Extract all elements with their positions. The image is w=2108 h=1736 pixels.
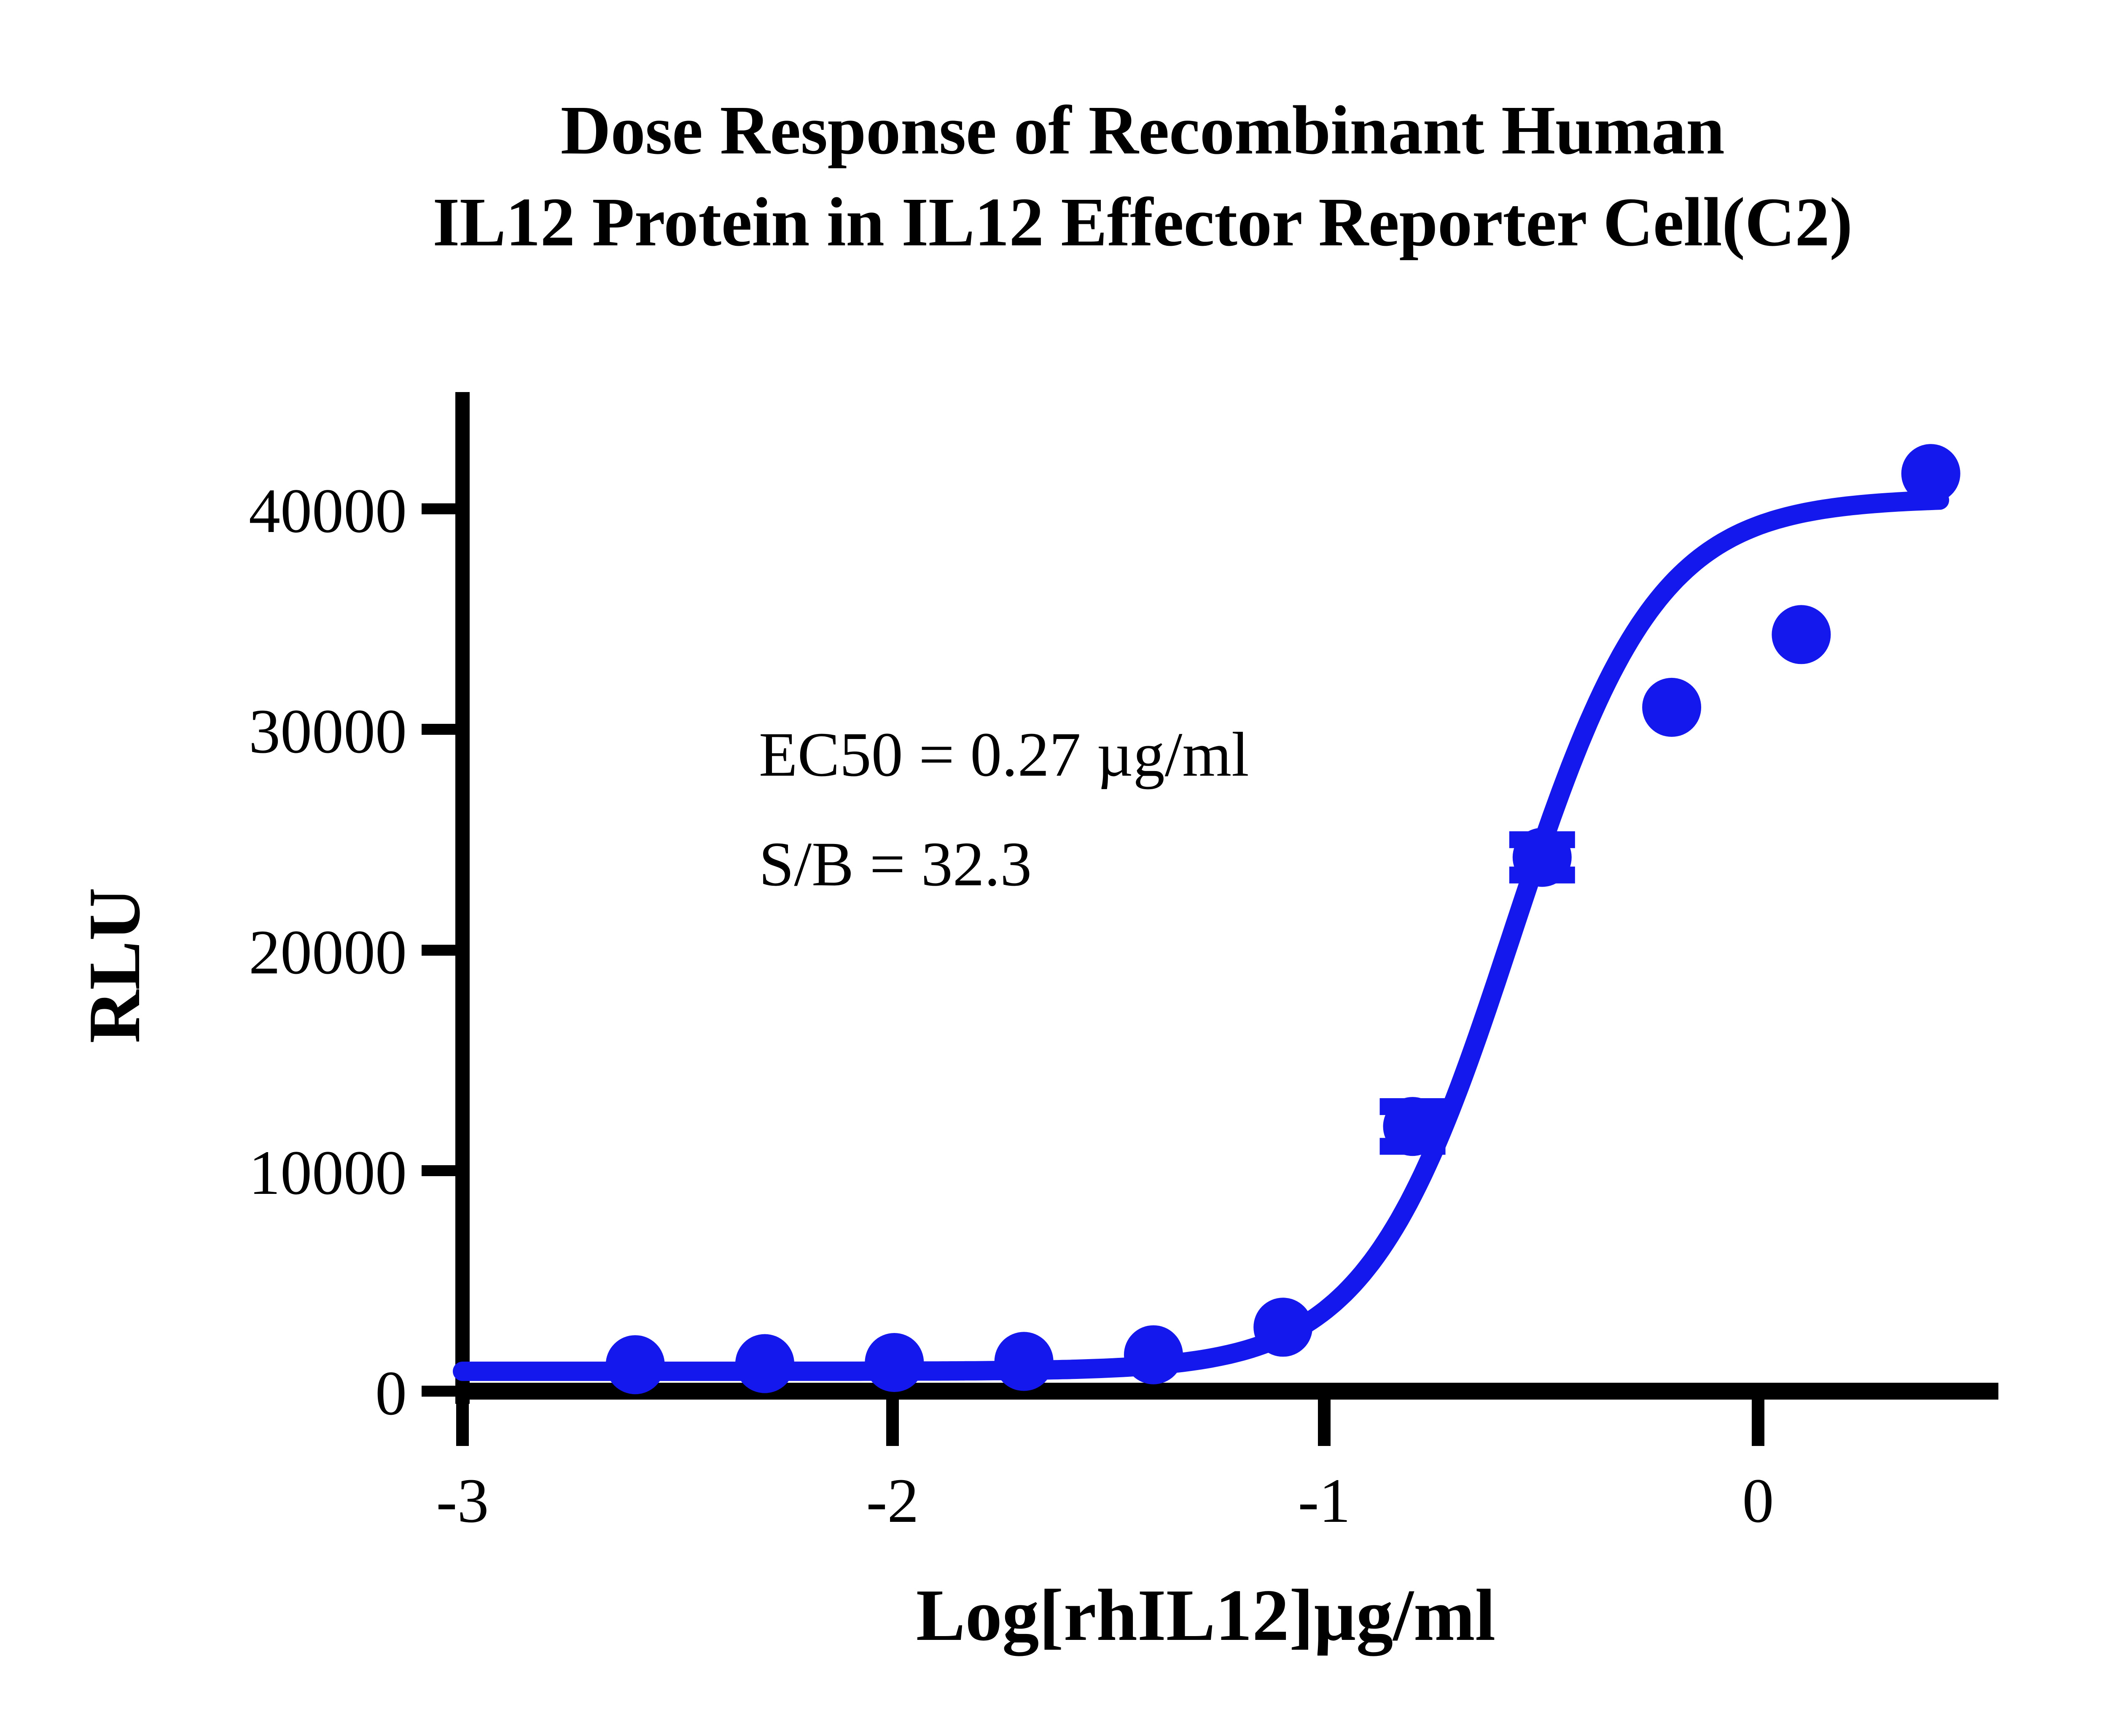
annotation-ec50: EC50 = 0.27 µg/ml (759, 720, 1249, 790)
data-point (1383, 1097, 1442, 1156)
data-point (1513, 828, 1572, 887)
x-axis-ticks (462, 1400, 1758, 1446)
y-tick-label-20000: 20000 (249, 917, 407, 987)
x-tick-label-neg2: -2 (866, 1466, 919, 1536)
data-point (1772, 605, 1831, 664)
fitted-curve-line (462, 500, 1939, 1371)
annotation-block: EC50 = 0.27 µg/ml S/B = 32.3 (759, 720, 1249, 899)
y-axis-title: RLU (73, 887, 155, 1043)
data-point (606, 1335, 665, 1394)
y-tick-label-30000: 30000 (249, 696, 407, 766)
x-tick-label-neg1: -1 (1298, 1466, 1351, 1536)
data-point (865, 1333, 924, 1392)
data-point (1901, 444, 1960, 503)
data-point (1642, 678, 1701, 737)
data-point (1253, 1298, 1312, 1357)
y-axis-tick-labels: 0 10000 20000 30000 40000 (249, 476, 407, 1428)
y-tick-label-40000: 40000 (249, 476, 407, 546)
data-point (995, 1332, 1054, 1391)
x-tick-label-0: 0 (1742, 1466, 1774, 1536)
y-tick-label-0: 0 (375, 1358, 407, 1428)
data-point-layer (606, 444, 1960, 1394)
y-tick-label-10000: 10000 (249, 1138, 407, 1208)
annotation-signal-to-background: S/B = 32.3 (759, 829, 1032, 899)
x-tick-label-neg3: -3 (436, 1466, 489, 1536)
x-axis-tick-labels: -3 -2 -1 0 (436, 1466, 1774, 1536)
data-point (1124, 1325, 1183, 1384)
axis-group (422, 392, 1998, 1446)
x-axis-title: Log[rhIL12]µg/ml (916, 1574, 1495, 1656)
figure-canvas: Dose Response of Recombinant Human IL12 … (0, 0, 2108, 1736)
data-point (735, 1334, 794, 1393)
dose-response-plot: 0 10000 20000 30000 40000 -3 -2 -1 0 Log… (0, 0, 2108, 1736)
